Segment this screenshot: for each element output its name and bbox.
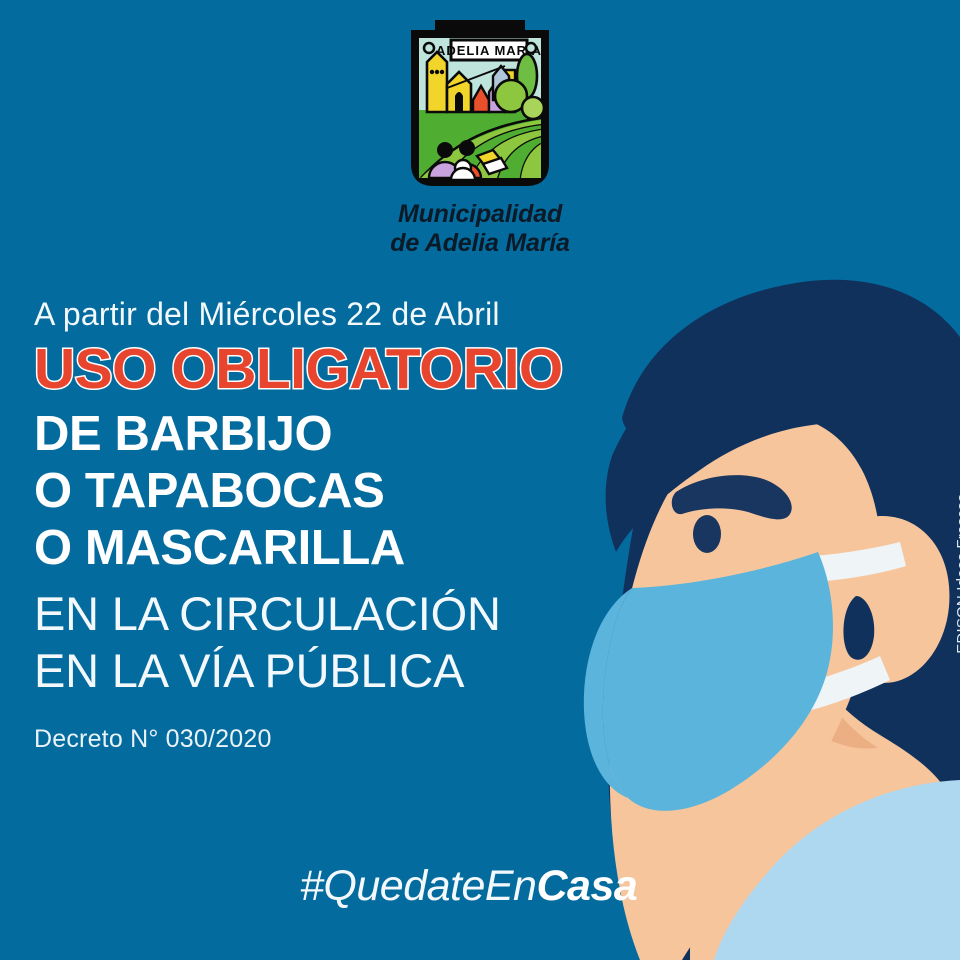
item-line-tapabocas: O TAPABOCAS xyxy=(34,463,654,520)
context-line-circulacion: EN LA CIRCULACIÓN xyxy=(34,586,654,642)
coat-of-arms-icon: ADELIA MARIA xyxy=(405,14,555,192)
poster-canvas: ADELIA MARIA xyxy=(0,0,960,960)
municipality-name: Municipalidad de Adelia María xyxy=(0,200,960,257)
item-line-mascarilla: O MASCARILLA xyxy=(34,520,654,577)
headline-mandatory-use: USO OBLIGATORIO xyxy=(34,341,654,398)
eye-shape xyxy=(693,515,721,553)
context-line-via-publica: EN LA VÍA PÚBLICA xyxy=(34,643,654,699)
effective-date-line: A partir del Miércoles 22 de Abril xyxy=(34,296,654,333)
designer-credit: EDISON Ideas Frescas xyxy=(954,494,960,654)
municipality-logo: ADELIA MARIA xyxy=(0,14,960,257)
decree-reference: Decreto N° 030/2020 xyxy=(34,725,654,754)
item-line-barbijo: DE BARBIJO xyxy=(34,406,654,463)
municipality-name-line1: Municipalidad xyxy=(0,200,960,229)
hashtag-thin-part: #QuedateEn xyxy=(300,862,536,910)
municipality-name-line2: de Adelia María xyxy=(0,229,960,258)
hashtag-bold-part: Casa xyxy=(536,862,637,910)
hashtag-quedate-en-casa: #QuedateEnCasa xyxy=(300,862,637,911)
announcement-copy: A partir del Miércoles 22 de Abril USO O… xyxy=(34,296,654,754)
